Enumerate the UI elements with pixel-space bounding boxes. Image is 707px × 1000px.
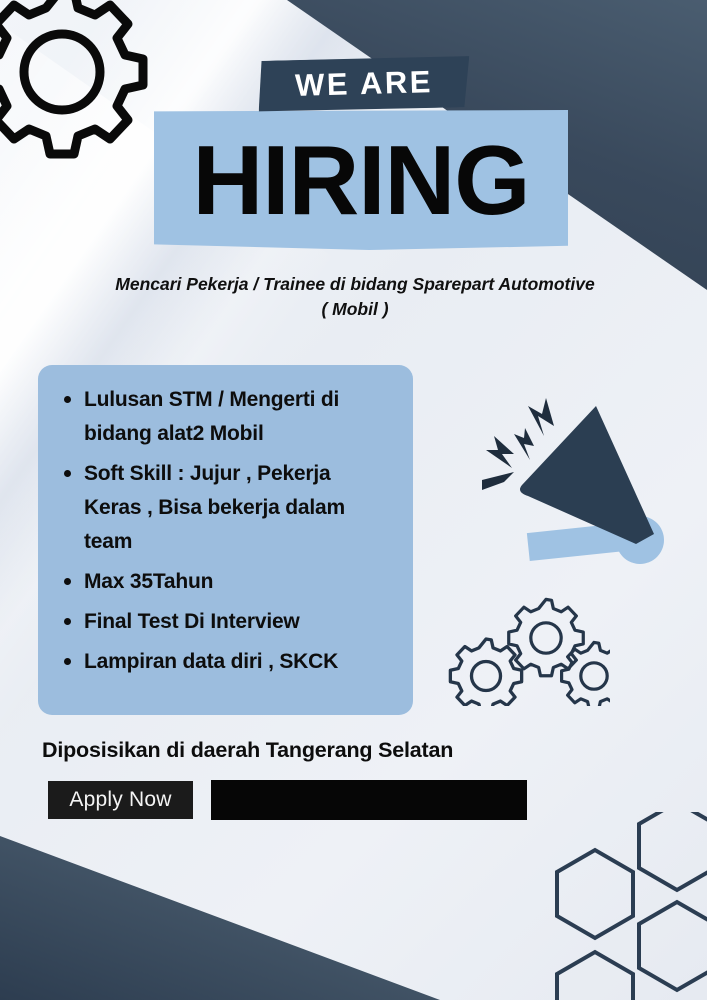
kicker-label: WE ARE: [257, 55, 470, 113]
requirements-box: Lulusan STM / Mengerti di bidang alat2 M…: [38, 365, 413, 715]
hiring-poster: HIRING WE ARE Mencari Pekerja / Trainee …: [0, 0, 707, 1000]
apply-now-button[interactable]: Apply Now: [48, 781, 193, 819]
requirements-list: Lulusan STM / Mengerti di bidang alat2 M…: [58, 383, 393, 679]
gear-icon: [450, 639, 521, 706]
hexagon-pattern: [527, 812, 707, 1000]
gear-icon: [0, 0, 162, 172]
list-item: Final Test Di Interview: [58, 605, 393, 639]
poster-subtitle: Mencari Pekerja / Trainee di bidang Spar…: [60, 272, 650, 323]
subtitle-line-1: Mencari Pekerja / Trainee di bidang Spar…: [60, 272, 650, 297]
list-item: Lulusan STM / Mengerti di bidang alat2 M…: [58, 383, 393, 451]
subtitle-line-2: ( Mobil ): [60, 297, 650, 322]
megaphone-icon: [468, 392, 680, 582]
list-item: Lampiran data diri , SKCK: [58, 645, 393, 679]
location-text: Diposisikan di daerah Tangerang Selatan: [42, 738, 453, 763]
list-item: Soft Skill : Jujur , Pekerja Keras , Bis…: [58, 457, 393, 559]
contact-info-redacted: [211, 780, 527, 820]
list-item: Max 35Tahun: [58, 565, 393, 599]
page-title: HIRING: [154, 112, 568, 248]
gear-icon: [562, 642, 610, 706]
gear-cluster: [438, 584, 610, 706]
